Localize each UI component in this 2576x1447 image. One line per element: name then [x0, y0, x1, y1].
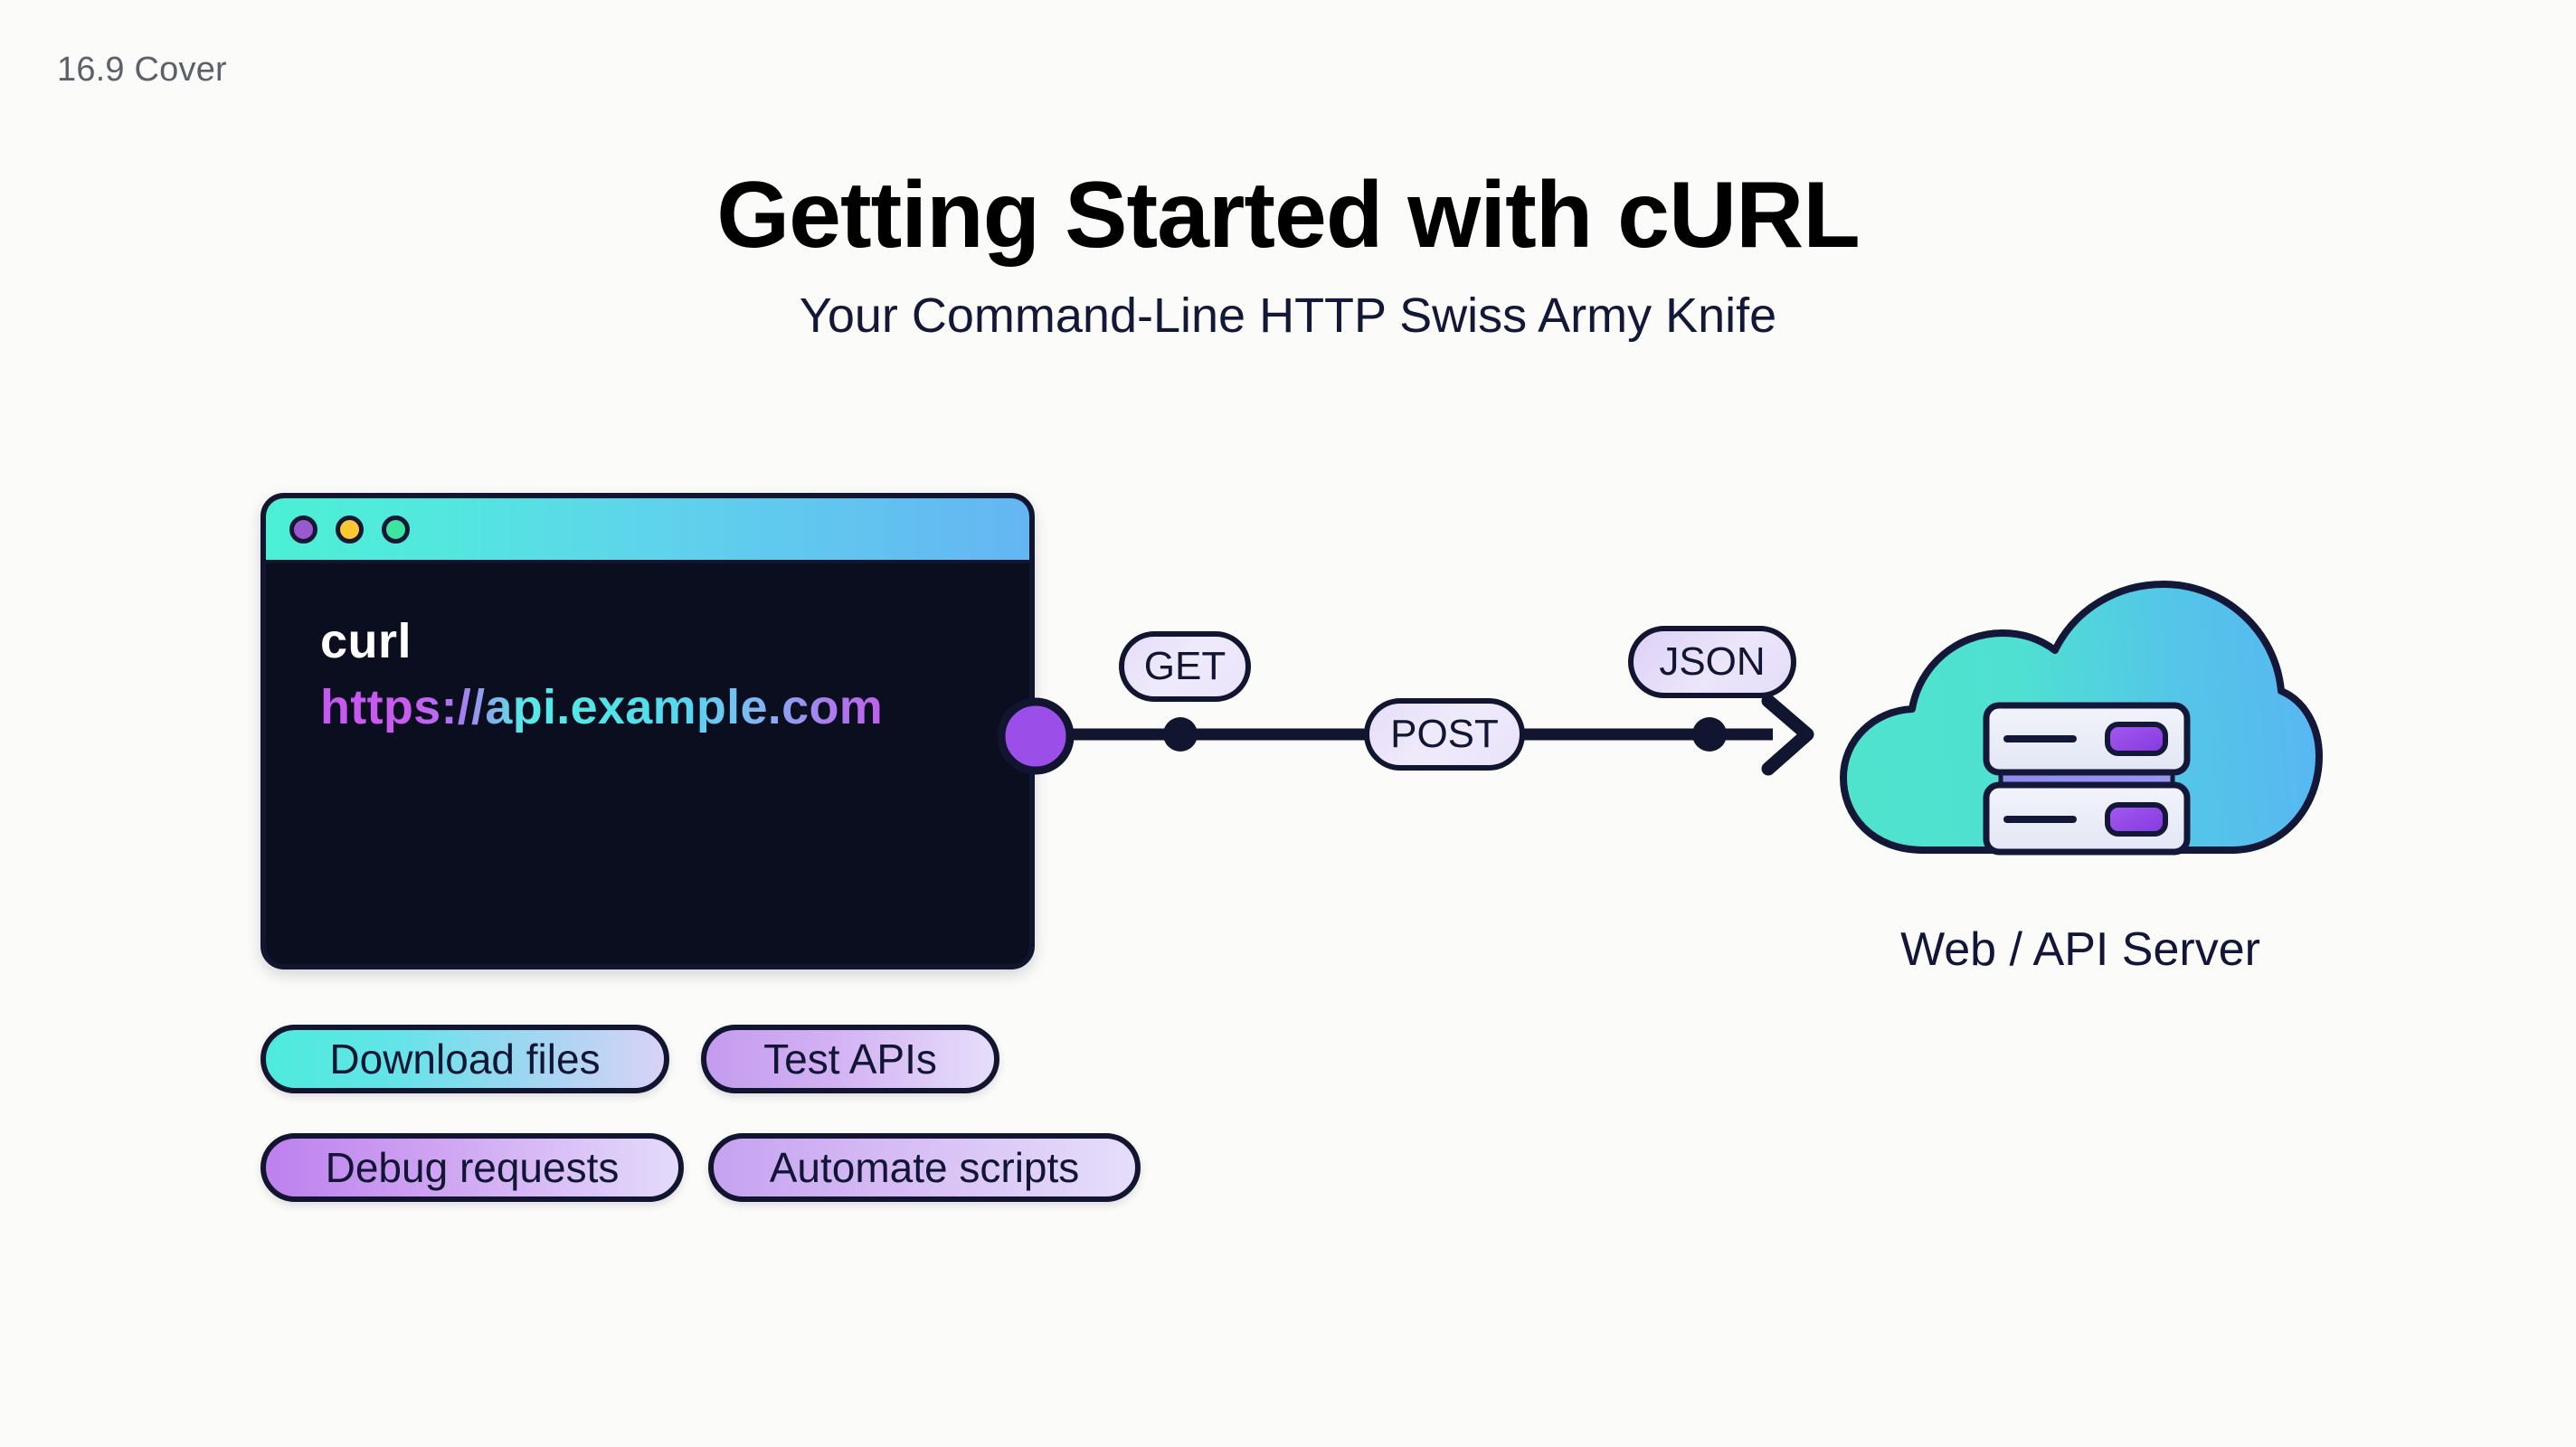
flow-arrowhead-icon [1768, 701, 1807, 769]
feature-pill-download-files[interactable]: Download files [260, 1025, 669, 1093]
title-block: Getting Started with cURL Your Command-L… [0, 163, 2576, 345]
cloud-server-illustration [1836, 579, 2325, 868]
flow-pill-post[interactable]: POST [1364, 698, 1525, 771]
terminal-titlebar [266, 498, 1029, 563]
flow-dot-1 [1163, 717, 1198, 752]
feature-pill-test-apis[interactable]: Test APIs [701, 1025, 999, 1093]
terminal-body: curl https://api.example.com [266, 563, 1029, 733]
server-rack-bottom-led [2107, 805, 2165, 834]
terminal-window: curl https://api.example.com [260, 493, 1035, 969]
flow-pill-get[interactable]: GET [1119, 631, 1251, 702]
feature-pill-debug-requests[interactable]: Debug requests [260, 1133, 684, 1202]
server-rack-top-led [2107, 724, 2165, 753]
page-title: Getting Started with cURL [0, 163, 2576, 268]
window-maximize-dot-icon[interactable] [382, 515, 410, 544]
flow-dot-2 [1692, 717, 1727, 752]
window-minimize-dot-icon[interactable] [336, 515, 364, 544]
window-close-dot-icon[interactable] [289, 515, 317, 544]
flow-pill-json[interactable]: JSON [1628, 626, 1796, 698]
page-subtitle: Your Command-Line HTTP Swiss Army Knife [0, 288, 2576, 344]
slide-label: 16.9 Cover [57, 51, 227, 90]
terminal-command-line: curl [320, 616, 1029, 667]
terminal-url-line: https://api.example.com [320, 682, 883, 733]
feature-pill-automate-scripts[interactable]: Automate scripts [708, 1133, 1141, 1202]
server-caption: Web / API Server [1836, 922, 2325, 977]
